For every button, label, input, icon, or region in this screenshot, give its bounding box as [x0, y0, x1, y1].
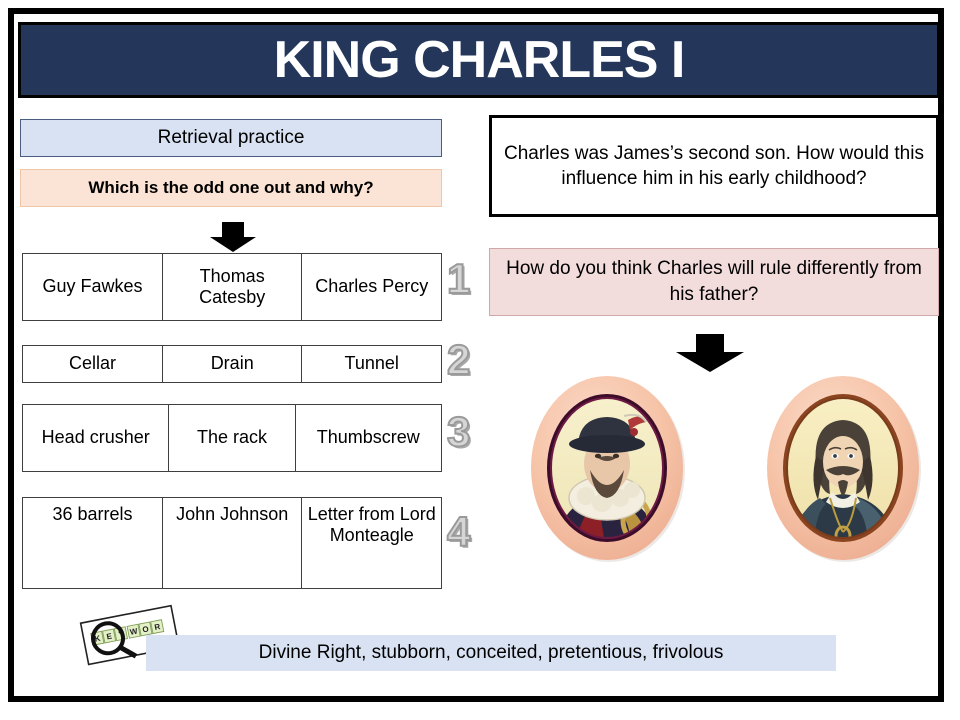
keywords-bar: Divine Right, stubborn, conceited, prete… [146, 635, 836, 671]
slide-canvas: KING CHARLES I Retrieval practice Which … [0, 0, 960, 720]
page-title: KING CHARLES I [274, 34, 685, 86]
table-number-badge: 4 [447, 511, 470, 553]
odd-one-out-prompt: Which is the odd one out and why? [20, 169, 442, 207]
table-number-badge: 2 [447, 339, 470, 381]
table-row: 36 barrels John Johnson Letter from Lord… [22, 497, 442, 589]
odd-one-cell[interactable]: Drain [162, 346, 302, 383]
table-row: Cellar Drain Tunnel [22, 345, 442, 383]
portrait-james-i [524, 370, 690, 566]
prediction-question-box: How do you think Charles will rule diffe… [489, 248, 939, 316]
context-question-text: Charles was James’s second son. How woul… [504, 141, 924, 191]
odd-one-cell[interactable]: Head crusher [23, 405, 169, 472]
title-banner: KING CHARLES I [18, 22, 940, 98]
retrieval-practice-text: Retrieval practice [158, 127, 305, 149]
odd-one-cell[interactable]: John Johnson [162, 498, 302, 589]
odd-one-cell[interactable]: The rack [169, 405, 295, 472]
prediction-question-text: How do you think Charles will rule diffe… [506, 256, 922, 307]
retrieval-practice-label: Retrieval practice [20, 119, 442, 157]
odd-one-cell[interactable]: Guy Fawkes [23, 254, 163, 321]
odd-one-cell[interactable]: Thomas Catesby [162, 254, 302, 321]
odd-one-cell[interactable]: Thumbscrew [295, 405, 441, 472]
context-question-box: Charles was James’s second son. How woul… [489, 115, 939, 217]
odd-one-cell[interactable]: Letter from Lord Monteagle [302, 498, 442, 589]
table-row: Guy Fawkes Thomas Catesby Charles Percy [22, 253, 442, 321]
odd-one-out-text: Which is the odd one out and why? [88, 178, 373, 198]
odd-one-cell[interactable]: Charles Percy [302, 254, 442, 321]
odd-one-cell[interactable]: Cellar [23, 346, 163, 383]
keywords-text: Divine Right, stubborn, conceited, prete… [259, 642, 724, 664]
portrait-charles-i [760, 370, 926, 566]
down-arrow-icon-right [672, 334, 748, 372]
table-row: Head crusher The rack Thumbscrew [22, 404, 442, 472]
odd-one-cell[interactable]: Tunnel [302, 346, 442, 383]
table-number-badge: 3 [447, 411, 470, 453]
odd-one-cell[interactable]: 36 barrels [23, 498, 163, 589]
down-arrow-icon-left [206, 222, 260, 252]
table-number-badge: 1 [447, 258, 470, 300]
